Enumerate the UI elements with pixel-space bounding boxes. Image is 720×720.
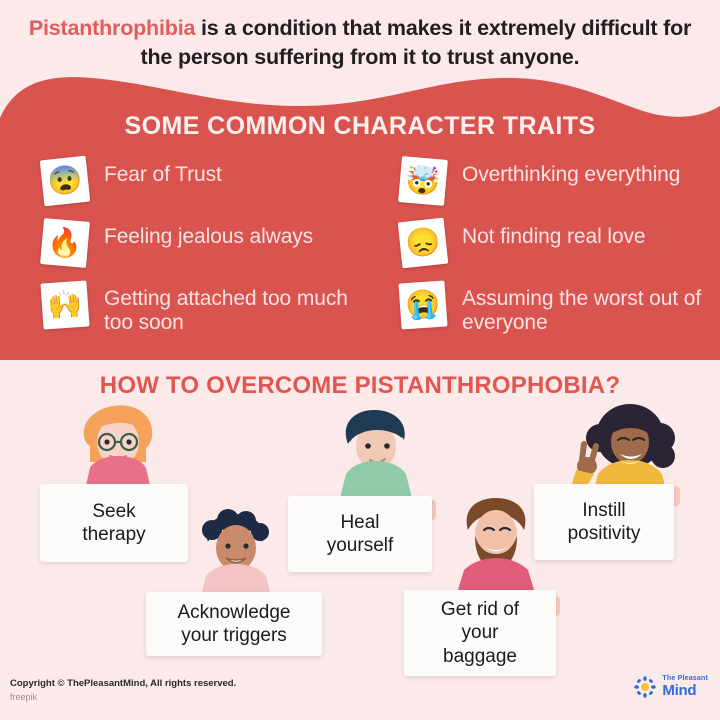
peace-hand: [572, 444, 597, 488]
sign-line: Get rid of: [441, 598, 519, 621]
sign-line: Seek: [82, 500, 145, 523]
sun-burst-icon: [634, 676, 656, 698]
fearful-face-icon: 😨: [40, 156, 91, 207]
overcome-people-group: Seek therapy: [0, 398, 720, 673]
sign-heal-yourself: Heal yourself: [288, 496, 432, 572]
trait-item: 😨 Fear of Trust: [42, 158, 222, 204]
sign-line: therapy: [82, 523, 145, 546]
man-dark-blue-hair-avatar: [320, 404, 428, 508]
fire-icon: 🔥: [40, 218, 90, 268]
traits-left-column: 😨 Fear of Trust 🔥 Feeling jealous always…: [42, 154, 382, 350]
logo-wordmark: The Pleasant Mind: [662, 675, 708, 698]
trait-label: Feeling jealous always: [104, 220, 313, 249]
sign-line: yourself: [327, 534, 394, 557]
copyright-text: Copyright © ThePleasantMind, All rights …: [10, 677, 236, 691]
traits-grid: 😨 Fear of Trust 🔥 Feeling jealous always…: [0, 154, 720, 350]
credit-text: freepik: [10, 691, 236, 704]
sign-line: your triggers: [177, 624, 290, 647]
trait-label: Getting attached too much too soon: [104, 282, 354, 336]
trait-label: Overthinking everything: [462, 158, 680, 187]
logo-bottom-text: Mind: [662, 683, 708, 698]
sign-line: Acknowledge: [177, 601, 290, 624]
sign-get-rid-baggage: Get rid of your baggage: [404, 590, 556, 676]
trait-label: Not finding real love: [462, 220, 646, 249]
head-exploding-face-icon: 🤯: [398, 156, 448, 206]
traits-title: SOME COMMON CHARACTER TRAITS: [0, 112, 720, 141]
traits-right-column: 🤯 Overthinking everything 😞 Not finding …: [400, 154, 720, 350]
disappointed-person-icon: 😞: [398, 218, 449, 269]
trait-label: Fear of Trust: [104, 158, 222, 187]
intro-statement: Pistanthrophibia is a condition that mak…: [0, 14, 720, 71]
sign-seek-therapy: Seek therapy: [40, 484, 188, 562]
trait-item: 😭 Assuming the worst out of everyone: [400, 282, 712, 336]
sign-line: baggage: [441, 645, 519, 668]
trait-label: Assuming the worst out of everyone: [462, 282, 712, 336]
crying-face-icon: 😭: [398, 280, 447, 329]
sign-line: Instill: [568, 499, 641, 522]
sign-acknowledge-triggers: Acknowledge your triggers: [146, 592, 322, 656]
sign-line: Heal: [327, 511, 394, 534]
sign-instill-positivity: Instill positivity: [534, 484, 674, 560]
sign-line: your: [441, 621, 519, 644]
infographic-canvas: Pistanthrophibia is a condition that mak…: [0, 0, 720, 720]
trait-item: 🔥 Feeling jealous always: [42, 220, 313, 266]
people-high-five-icon: 🙌: [40, 280, 89, 329]
trait-item: 🤯 Overthinking everything: [400, 158, 680, 204]
logo-top-text: The Pleasant: [662, 675, 708, 682]
footer: Copyright © ThePleasantMind, All rights …: [10, 677, 236, 704]
trait-item: 😞 Not finding real love: [400, 220, 646, 266]
brand-logo[interactable]: The Pleasant Mind: [634, 675, 708, 698]
sign-line: positivity: [568, 522, 641, 545]
phobia-term: Pistanthrophibia: [29, 16, 195, 40]
overcome-title: HOW TO OVERCOME PISTANTHROPHOBIA?: [0, 372, 720, 400]
traits-section: SOME COMMON CHARACTER TRAITS 😨 Fear of T…: [0, 72, 720, 360]
intro-rest: is a condition that makes it extremely d…: [141, 16, 692, 69]
trait-item: 🙌 Getting attached too much too soon: [42, 282, 354, 336]
